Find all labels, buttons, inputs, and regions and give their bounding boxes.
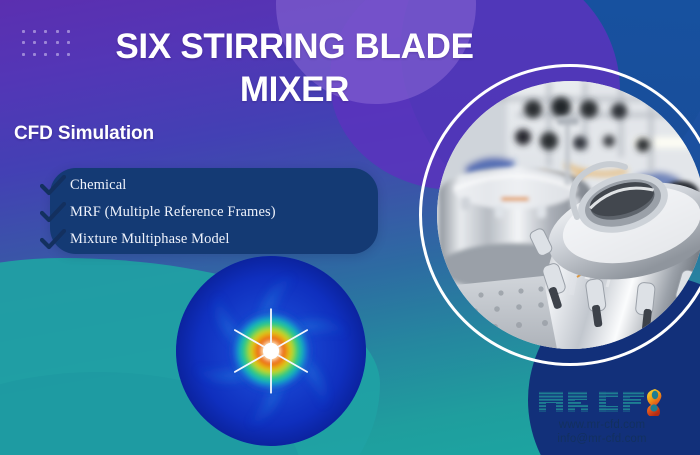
brand-logo-block: www.mr-cfd.com info@mr-cfd.com xyxy=(526,386,678,447)
poster-canvas: SIX STIRRING BLADE MIXER CFD Simulation … xyxy=(0,0,700,455)
list-item: MRF (Multiple Reference Frames) xyxy=(40,199,380,226)
list-item: Mixture Multiphase Model xyxy=(40,226,380,253)
check-icon xyxy=(40,175,66,197)
photo-industrial-mixing-tanks xyxy=(437,81,700,349)
page-title: SIX STIRRING BLADE MIXER xyxy=(82,26,507,111)
dot-grid-ornament xyxy=(18,26,74,60)
feature-list: Chemical MRF (Multiple Reference Frames)… xyxy=(40,172,380,253)
cfd-contour-plot xyxy=(176,256,366,446)
check-icon xyxy=(40,202,66,224)
contact-website[interactable]: www.mr-cfd.com xyxy=(526,418,678,433)
contact-email[interactable]: info@mr-cfd.com xyxy=(526,432,678,447)
list-item-label: MRF (Multiple Reference Frames) xyxy=(70,204,276,221)
list-item-label: Mixture Multiphase Model xyxy=(70,231,229,248)
page-subtitle: CFD Simulation xyxy=(14,123,154,145)
mr-cfd-logo-icon xyxy=(537,386,667,416)
check-icon xyxy=(40,229,66,251)
list-item-label: Chemical xyxy=(70,177,126,194)
list-item: Chemical xyxy=(40,172,380,199)
